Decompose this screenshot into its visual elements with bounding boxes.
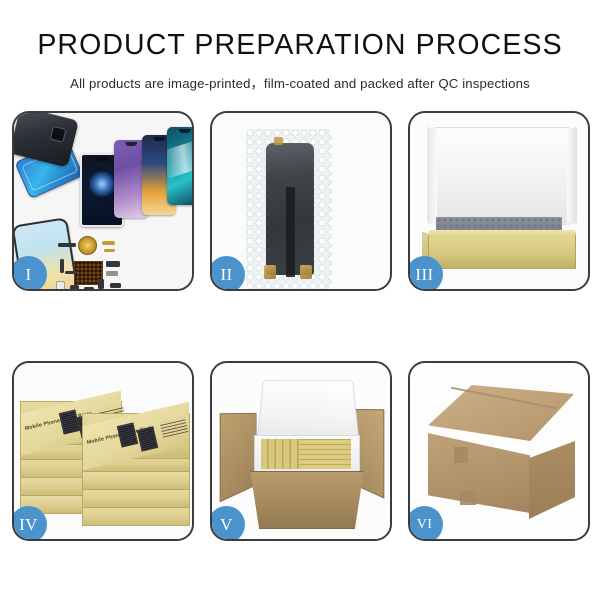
bubble-wrap-bag [246,129,332,289]
process-step-2[interactable]: II [210,111,392,291]
phone-screen-teal [167,127,192,205]
foam-lid-open [257,380,360,441]
spare-part [84,287,94,289]
spare-part [106,261,120,267]
process-step-5[interactable]: V [210,361,392,541]
spare-part [60,259,64,273]
kraft-box-labelled: Mobile Phone Spare Parts [82,413,190,459]
kraft-box [82,471,190,490]
spare-part [106,271,118,276]
spare-part [110,283,121,288]
process-step-6[interactable]: VI [408,361,590,541]
gold-connector [274,137,283,145]
flex-cable [286,187,295,277]
spare-part [65,271,77,274]
step-number-badge-1: I [12,256,47,291]
process-step-1[interactable]: I [12,111,194,291]
kraft-box-base [428,235,576,269]
spare-part [98,279,104,289]
carton-tape-patch [454,447,468,463]
carton-body [244,471,370,529]
gold-connector [300,265,312,279]
packed-kraft-boxes-stacked [299,439,351,469]
page-header: PRODUCT PREPARATION PROCESS All products… [0,0,600,92]
spare-part [70,285,79,289]
step-number-badge-3: III [408,256,443,291]
spare-part [104,249,115,252]
spare-part [102,241,115,245]
kraft-box [82,489,190,508]
spare-part [56,281,65,289]
spare-part [58,243,76,247]
step-number-badge-6: VI [408,506,443,541]
packed-boxes-area [261,439,351,469]
process-step-grid: I II III [12,111,590,541]
coil-part-icon [78,236,97,255]
step-number-badge-2: II [210,256,245,291]
kraft-box [82,507,190,526]
step-number-badge-4: IV [12,506,47,541]
process-step-4[interactable]: Mobile Phone Spare Parts Mobile Phone Sp… [12,361,194,541]
process-step-3[interactable]: III [408,111,590,291]
gold-connector [264,265,276,279]
kraft-box-stack: Mobile Phone Spare Parts Mobile Phone Sp… [20,377,190,529]
step-number-badge-5: V [210,506,245,541]
white-foam-lid [434,127,570,225]
carton-tape-patch [460,491,476,505]
page-subtitle: All products are image-printed，film-coat… [0,60,600,92]
page-title: PRODUCT PREPARATION PROCESS [0,31,600,60]
